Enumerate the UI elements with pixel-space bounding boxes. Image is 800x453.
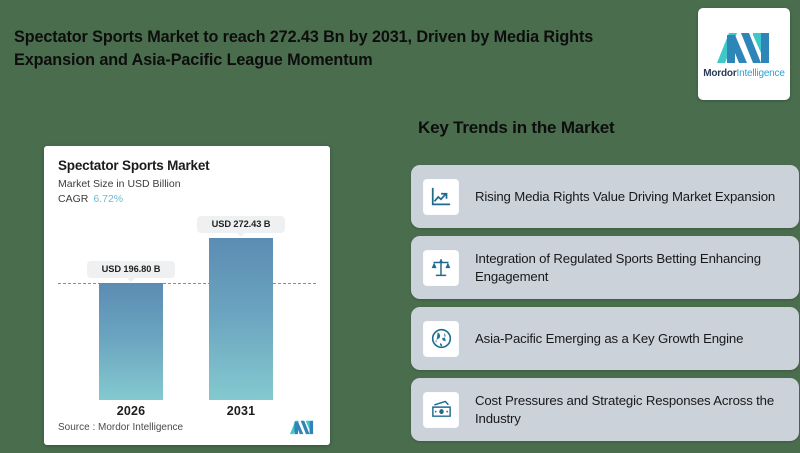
trend-card-text: Rising Media Rights Value Driving Market…	[475, 188, 785, 205]
chart-subtitle: Market Size in USD Billion	[58, 178, 316, 190]
trend-card-cost-pressures[interactable]: Cost Pressures and Strategic Responses A…	[411, 378, 799, 441]
x-axis-label-2026: 2026	[91, 404, 171, 418]
balance-scales-icon	[424, 251, 458, 285]
chart-cagr: CAGR6.72%	[58, 193, 316, 205]
brand-name: Mordor	[703, 68, 736, 79]
brand-logo-card: MordorIntelligence	[698, 8, 790, 100]
trends-heading: Key Trends in the Market	[418, 118, 614, 138]
chart-panel: Spectator Sports Market Market Size in U…	[44, 146, 330, 445]
mordor-m-mark-icon	[288, 419, 316, 435]
brand-logo-text: MordorIntelligence	[703, 68, 784, 79]
banknotes-icon	[424, 393, 458, 427]
data-label-2031: USD 272.43 B	[197, 216, 285, 233]
bar-2031	[209, 238, 273, 400]
bar-2026	[99, 283, 163, 400]
trend-card-text: Asia-Pacific Emerging as a Key Growth En…	[475, 330, 753, 347]
chart-title: Spectator Sports Market	[58, 158, 316, 173]
cagr-label: CAGR	[58, 193, 88, 205]
chart-footer: Source : Mordor Intelligence	[58, 419, 316, 435]
trend-card-media-rights[interactable]: Rising Media Rights Value Driving Market…	[411, 165, 799, 228]
chart-plot-area: USD 196.80 B USD 272.43 B	[58, 222, 316, 400]
page-title: Spectator Sports Market to reach 272.43 …	[14, 26, 664, 72]
data-label-2026: USD 196.80 B	[87, 261, 175, 278]
brand-product: Intelligence	[737, 68, 785, 79]
mordor-m-mark-icon	[715, 29, 773, 65]
trends-card-list: Rising Media Rights Value Driving Market…	[411, 165, 799, 449]
trend-card-text: Integration of Regulated Sports Betting …	[475, 250, 799, 285]
globe-icon	[424, 322, 458, 356]
trend-card-text: Cost Pressures and Strategic Responses A…	[475, 392, 799, 427]
cagr-value: 6.72%	[93, 193, 123, 205]
growth-chart-icon	[424, 180, 458, 214]
trend-card-asia-pacific[interactable]: Asia-Pacific Emerging as a Key Growth En…	[411, 307, 799, 370]
trend-card-sports-betting[interactable]: Integration of Regulated Sports Betting …	[411, 236, 799, 299]
chart-source: Source : Mordor Intelligence	[58, 422, 183, 433]
header: Spectator Sports Market to reach 272.43 …	[0, 0, 800, 110]
reference-dashed-line	[58, 283, 316, 284]
x-axis-label-2031: 2031	[201, 404, 281, 418]
